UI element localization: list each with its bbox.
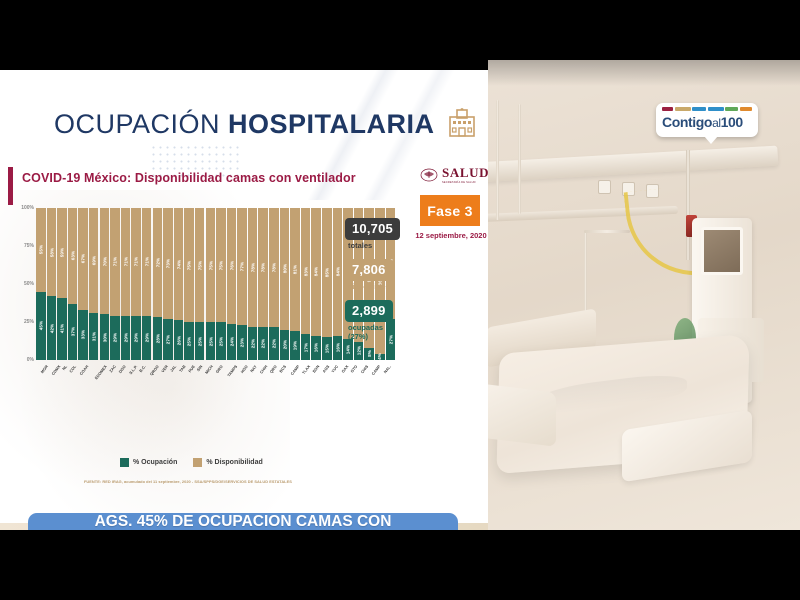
bar-segment-ocupacion: 25% bbox=[184, 322, 194, 360]
photo-top-shadow bbox=[488, 60, 800, 86]
bar-segment-ocupacion: 26% bbox=[174, 320, 184, 360]
bar-value-label: 4% bbox=[377, 354, 382, 361]
bar-segment-ocupacion: 31% bbox=[89, 313, 99, 360]
stat-chip: 2,899 bbox=[345, 300, 393, 322]
bar-value-label: 37% bbox=[70, 327, 75, 337]
bar-value-label: 55% bbox=[38, 245, 43, 255]
bar-value-label: 84% bbox=[314, 267, 319, 277]
bar-segment-disponibilidad: 58% bbox=[47, 208, 57, 296]
bar-segment-ocupacion: 25% bbox=[195, 322, 205, 360]
chart-bar: 58%42% bbox=[47, 208, 57, 360]
bar-segment-ocupacion: 24% bbox=[227, 324, 237, 360]
bar-value-label: 16% bbox=[335, 343, 340, 353]
bar-value-label: 26% bbox=[176, 335, 181, 345]
caption-line-1: AGS. 45% DE OCUPACION CAMAS CON bbox=[95, 512, 392, 530]
bar-segment-ocupacion: 28% bbox=[153, 317, 163, 360]
chart-plot-area: 55%45%58%42%59%41%63%37%67%33%69%31%70%3… bbox=[36, 208, 344, 360]
bar-value-label: 29% bbox=[112, 333, 117, 343]
bar-value-label: 45% bbox=[38, 321, 43, 331]
bar-value-label: 25% bbox=[187, 336, 192, 346]
logo-color-bar bbox=[740, 107, 752, 111]
bar-value-label: 71% bbox=[123, 257, 128, 267]
bar-segment-ocupacion: 19% bbox=[290, 331, 300, 360]
bar-segment-ocupacion: 27% bbox=[163, 319, 173, 360]
bar-value-label: 29% bbox=[134, 333, 139, 343]
logo-text-100: 100 bbox=[721, 114, 743, 130]
bar-segment-ocupacion: 16% bbox=[311, 336, 321, 360]
chart-bar: 83%17% bbox=[301, 208, 311, 360]
bar-segment-ocupacion: 42% bbox=[47, 296, 57, 360]
screenshot-stage: OCUPACIÓN HOSPITALARIA bbox=[0, 0, 800, 600]
bar-value-label: 78% bbox=[250, 263, 255, 273]
logo-text-al: al bbox=[712, 116, 721, 130]
bar-segment-disponibilidad: 71% bbox=[121, 208, 131, 316]
salud-logo: SALUD SECRETARÍA DE SALUD bbox=[420, 165, 488, 184]
logo-color-bar bbox=[662, 107, 673, 111]
bar-value-label: 77% bbox=[240, 262, 245, 272]
bar-segment-disponibilidad: 84% bbox=[333, 208, 343, 336]
hospital-building-icon bbox=[445, 105, 479, 144]
bar-value-label: 71% bbox=[134, 257, 139, 267]
contigo-al-100-logo: Contigoal100 bbox=[656, 103, 758, 137]
chart-bar: 69%31% bbox=[89, 208, 99, 360]
bar-value-label: 25% bbox=[218, 336, 223, 346]
bar-segment-disponibilidad: 78% bbox=[269, 208, 279, 327]
chart-bar: 76%24% bbox=[227, 208, 237, 360]
bar-value-label: 25% bbox=[208, 336, 213, 346]
bar-segment-ocupacion: 22% bbox=[258, 327, 268, 360]
title-word-ocupacion: OCUPACIÓN bbox=[54, 109, 220, 140]
slide-title: OCUPACIÓN HOSPITALARIA bbox=[0, 96, 488, 152]
bar-segment-disponibilidad: 85% bbox=[322, 208, 332, 337]
wall-pipe bbox=[496, 100, 499, 220]
bar-value-label: 58% bbox=[49, 247, 54, 257]
bar-value-label: 70% bbox=[102, 256, 107, 266]
bar-value-label: 59% bbox=[59, 248, 64, 258]
legend-swatch bbox=[120, 458, 129, 467]
bar-segment-disponibilidad: 81% bbox=[290, 208, 300, 331]
bar-segment-disponibilidad: 77% bbox=[237, 208, 247, 325]
chart-bar: 63%37% bbox=[68, 208, 78, 360]
legend-swatch bbox=[193, 458, 202, 467]
source-note: FUENTE: RED IRAG, acumulado del 11 septi… bbox=[84, 479, 292, 484]
caption-banner: AGS. 45% DE OCUPACION CAMAS CON VENTILAD… bbox=[28, 513, 458, 530]
stat-value: 10,705 bbox=[352, 221, 393, 236]
bar-value-label: 81% bbox=[293, 265, 298, 275]
bar-segment-ocupacion: 22% bbox=[248, 327, 258, 360]
stat-caption: totales bbox=[348, 241, 415, 250]
bar-segment-disponibilidad: 63% bbox=[68, 208, 78, 304]
bar-segment-ocupacion: 23% bbox=[237, 325, 247, 360]
bar-value-label: 17% bbox=[303, 342, 308, 352]
logo-color-bar bbox=[675, 107, 691, 111]
bar-segment-ocupacion: 30% bbox=[100, 314, 110, 360]
bar-value-label: 41% bbox=[59, 324, 64, 334]
bar-value-label: 78% bbox=[271, 263, 276, 273]
y-tick-label: 0% bbox=[27, 357, 34, 363]
chart-bar: 73%27% bbox=[163, 208, 173, 360]
bar-value-label: 15% bbox=[324, 344, 329, 354]
y-tick-label: 75% bbox=[24, 243, 34, 249]
bar-segment-disponibilidad: 75% bbox=[195, 208, 205, 322]
chart-bar: 71%29% bbox=[110, 208, 120, 360]
x-axis-labels: MORCDMXNLCOLCOAHEDOMEXZACDGOS.L.P.B.C.QR… bbox=[36, 361, 344, 387]
bar-segment-ocupacion: 29% bbox=[131, 316, 141, 360]
chart-bar: 84%16% bbox=[333, 208, 343, 360]
bar-value-label: 84% bbox=[335, 267, 340, 277]
bar-segment-disponibilidad: 75% bbox=[206, 208, 216, 322]
bar-value-label: 19% bbox=[293, 341, 298, 351]
y-axis: 0%25%50%75%100% bbox=[14, 208, 36, 360]
chart-bar: 67%33% bbox=[78, 208, 88, 360]
title-word-hospitalaria: HOSPITALARIA bbox=[228, 109, 435, 140]
bar-segment-disponibilidad: 80% bbox=[280, 208, 290, 330]
bar-value-label: 74% bbox=[176, 259, 181, 269]
bar-value-label: 24% bbox=[229, 337, 234, 347]
bar-segment-disponibilidad: 84% bbox=[311, 208, 321, 336]
bar-value-label: 63% bbox=[70, 251, 75, 261]
chart-bar: 72%28% bbox=[153, 208, 163, 360]
iv-pole bbox=[686, 150, 690, 260]
bar-segment-disponibilidad: 59% bbox=[57, 208, 67, 298]
bar-segment-ocupacion: 29% bbox=[121, 316, 131, 360]
bar-segment-disponibilidad: 83% bbox=[301, 208, 311, 334]
stacked-bar-chart: 0%25%50%75%100% 55%45%58%42%59%41%63%37%… bbox=[14, 208, 344, 460]
bar-value-label: 22% bbox=[261, 339, 266, 349]
bar-value-label: 22% bbox=[250, 339, 255, 349]
bar-segment-ocupacion: 29% bbox=[110, 316, 120, 360]
bar-segment-ocupacion: 15% bbox=[322, 337, 332, 360]
legend-label: % Ocupación bbox=[133, 459, 177, 466]
salud-wordmark: SALUD bbox=[442, 165, 488, 181]
chart-bar: 59%41% bbox=[57, 208, 67, 360]
chart-bar: 84%16% bbox=[311, 208, 321, 360]
stat-value: 7,806 bbox=[352, 262, 386, 277]
bar-value-label: 75% bbox=[197, 260, 202, 270]
bar-value-label: 28% bbox=[155, 334, 160, 344]
bar-segment-disponibilidad: 55% bbox=[36, 208, 46, 292]
y-tick-label: 100% bbox=[21, 205, 34, 211]
chart-bar: 70%30% bbox=[100, 208, 110, 360]
logo-color-bars bbox=[662, 107, 752, 111]
bar-segment-ocupacion: 25% bbox=[216, 322, 226, 360]
chart-bar: 77%23% bbox=[237, 208, 247, 360]
chart-bar: 71%29% bbox=[131, 208, 141, 360]
chart-subtitle: COVID-19 México: Disponibilidad camas co… bbox=[22, 171, 356, 185]
bar-value-label: 29% bbox=[144, 333, 149, 343]
chart-bar: 75%25% bbox=[195, 208, 205, 360]
chart-legend: % Ocupación% Disponibilidad bbox=[120, 458, 263, 467]
fase-badge: Fase 3 bbox=[420, 195, 480, 226]
bar-value-label: 72% bbox=[155, 258, 160, 268]
bar-segment-disponibilidad: 71% bbox=[110, 208, 120, 316]
bar-segment-disponibilidad: 76% bbox=[227, 208, 237, 324]
bar-segment-ocupacion: 37% bbox=[68, 304, 78, 360]
mexico-eagle-emblem-icon bbox=[420, 166, 438, 184]
logo-color-bar bbox=[692, 107, 706, 111]
chart-bar: 81%19% bbox=[290, 208, 300, 360]
wall-pipe bbox=[584, 230, 630, 233]
bar-value-label: 8% bbox=[367, 350, 372, 357]
ventilator-monitor-screen bbox=[701, 227, 743, 275]
logo-color-bar bbox=[708, 107, 724, 111]
bar-value-label: 76% bbox=[229, 261, 234, 271]
stat-chip: 10,705 bbox=[345, 218, 400, 240]
bar-value-label: 71% bbox=[144, 257, 149, 267]
subtitle-row: COVID-19 México: Disponibilidad camas co… bbox=[0, 163, 488, 199]
accent-bar bbox=[8, 167, 13, 205]
bar-segment-disponibilidad: 71% bbox=[131, 208, 141, 316]
y-tick-label: 50% bbox=[24, 281, 34, 287]
bar-segment-disponibilidad: 67% bbox=[78, 208, 88, 310]
bar-segment-disponibilidad: 75% bbox=[184, 208, 194, 322]
bar-value-label: 73% bbox=[165, 259, 170, 269]
chart-bar: 78%22% bbox=[269, 208, 279, 360]
logo-text-contigo: Contigo bbox=[662, 114, 712, 130]
bar-value-label: 83% bbox=[303, 266, 308, 276]
bar-value-label: 67% bbox=[81, 254, 86, 264]
chart-bar: 71%29% bbox=[142, 208, 152, 360]
bar-value-label: 23% bbox=[240, 338, 245, 348]
presentation-slide: OCUPACIÓN HOSPITALARIA bbox=[0, 70, 488, 530]
bar-value-label: 27% bbox=[165, 335, 170, 345]
bar-segment-ocupacion: 17% bbox=[301, 334, 311, 360]
bar-value-label: 29% bbox=[123, 333, 128, 343]
stat-value: 2,899 bbox=[352, 303, 386, 318]
bar-segment-ocupacion: 25% bbox=[206, 322, 216, 360]
bar-segment-ocupacion: 45% bbox=[36, 292, 46, 360]
bar-value-label: 75% bbox=[187, 260, 192, 270]
bar-value-label: 30% bbox=[102, 332, 107, 342]
bar-value-label: 31% bbox=[91, 332, 96, 342]
stat-chip: 7,806 bbox=[345, 259, 393, 281]
bar-segment-disponibilidad: 72% bbox=[153, 208, 163, 317]
bar-segment-ocupacion: 41% bbox=[57, 298, 67, 360]
logo-wordmark: Contigoal100 bbox=[662, 113, 752, 132]
chart-bar: 80%20% bbox=[280, 208, 290, 360]
bar-value-label: 20% bbox=[282, 340, 287, 350]
legend-label: % Disponibilidad bbox=[206, 459, 262, 466]
chart-bar: 75%25% bbox=[216, 208, 226, 360]
bar-value-label: 16% bbox=[314, 343, 319, 353]
chart-bar: 75%25% bbox=[184, 208, 194, 360]
summary-stats: 10,705totales7,806disponibles2,899ocupad… bbox=[345, 218, 415, 350]
bed-side-rail-left bbox=[488, 383, 556, 447]
bar-value-label: 69% bbox=[91, 256, 96, 266]
salud-subtext: SECRETARÍA DE SALUD bbox=[442, 181, 488, 184]
bar-value-label: 85% bbox=[324, 268, 329, 278]
bar-value-label: 71% bbox=[112, 257, 117, 267]
bar-value-label: 33% bbox=[81, 330, 86, 340]
chart-bar: 78%22% bbox=[248, 208, 258, 360]
chart-bar: 71%29% bbox=[121, 208, 131, 360]
chart-bar: 85%15% bbox=[322, 208, 332, 360]
fase-date: 12 septiembre, 2020 bbox=[412, 231, 488, 240]
bar-segment-ocupacion: 16% bbox=[333, 336, 343, 360]
chart-bar: 78%22% bbox=[258, 208, 268, 360]
chart-bar: 74%26% bbox=[174, 208, 184, 360]
bar-segment-disponibilidad: 73% bbox=[163, 208, 173, 319]
bar-segment-disponibilidad: 78% bbox=[248, 208, 258, 327]
bar-segment-disponibilidad: 71% bbox=[142, 208, 152, 316]
wall-pipe bbox=[518, 104, 521, 214]
bar-value-label: 78% bbox=[261, 263, 266, 273]
legend-item: % Disponibilidad bbox=[193, 458, 262, 467]
bar-segment-ocupacion: 4% bbox=[375, 354, 385, 360]
bar-segment-ocupacion: 20% bbox=[280, 330, 290, 360]
chart-bar: 75%25% bbox=[206, 208, 216, 360]
bar-segment-disponibilidad: 75% bbox=[216, 208, 226, 322]
bar-value-label: 75% bbox=[218, 260, 223, 270]
bar-segment-ocupacion: 29% bbox=[142, 316, 152, 360]
y-tick-label: 25% bbox=[24, 319, 34, 325]
bar-segment-ocupacion: 22% bbox=[269, 327, 279, 360]
chart-bar: 55%45% bbox=[36, 208, 46, 360]
bar-segment-disponibilidad: 78% bbox=[258, 208, 268, 327]
legend-item: % Ocupación bbox=[120, 458, 177, 467]
stat-caption: disponibles bbox=[348, 282, 415, 291]
bar-segment-ocupacion: 33% bbox=[78, 310, 88, 360]
bar-value-label: 22% bbox=[271, 339, 276, 349]
bar-segment-disponibilidad: 70% bbox=[100, 208, 110, 314]
stat-caption: ocupadas (27%) bbox=[348, 323, 415, 341]
wall-outlet bbox=[598, 180, 611, 194]
bar-segment-disponibilidad: 74% bbox=[174, 208, 184, 320]
bar-value-label: 42% bbox=[49, 323, 54, 333]
bar-value-label: 25% bbox=[197, 336, 202, 346]
hospital-bed bbox=[488, 332, 782, 512]
bar-value-label: 75% bbox=[208, 260, 213, 270]
bar-segment-disponibilidad: 69% bbox=[89, 208, 99, 313]
logo-color-bar bbox=[725, 107, 738, 111]
bar-value-label: 80% bbox=[282, 264, 287, 274]
